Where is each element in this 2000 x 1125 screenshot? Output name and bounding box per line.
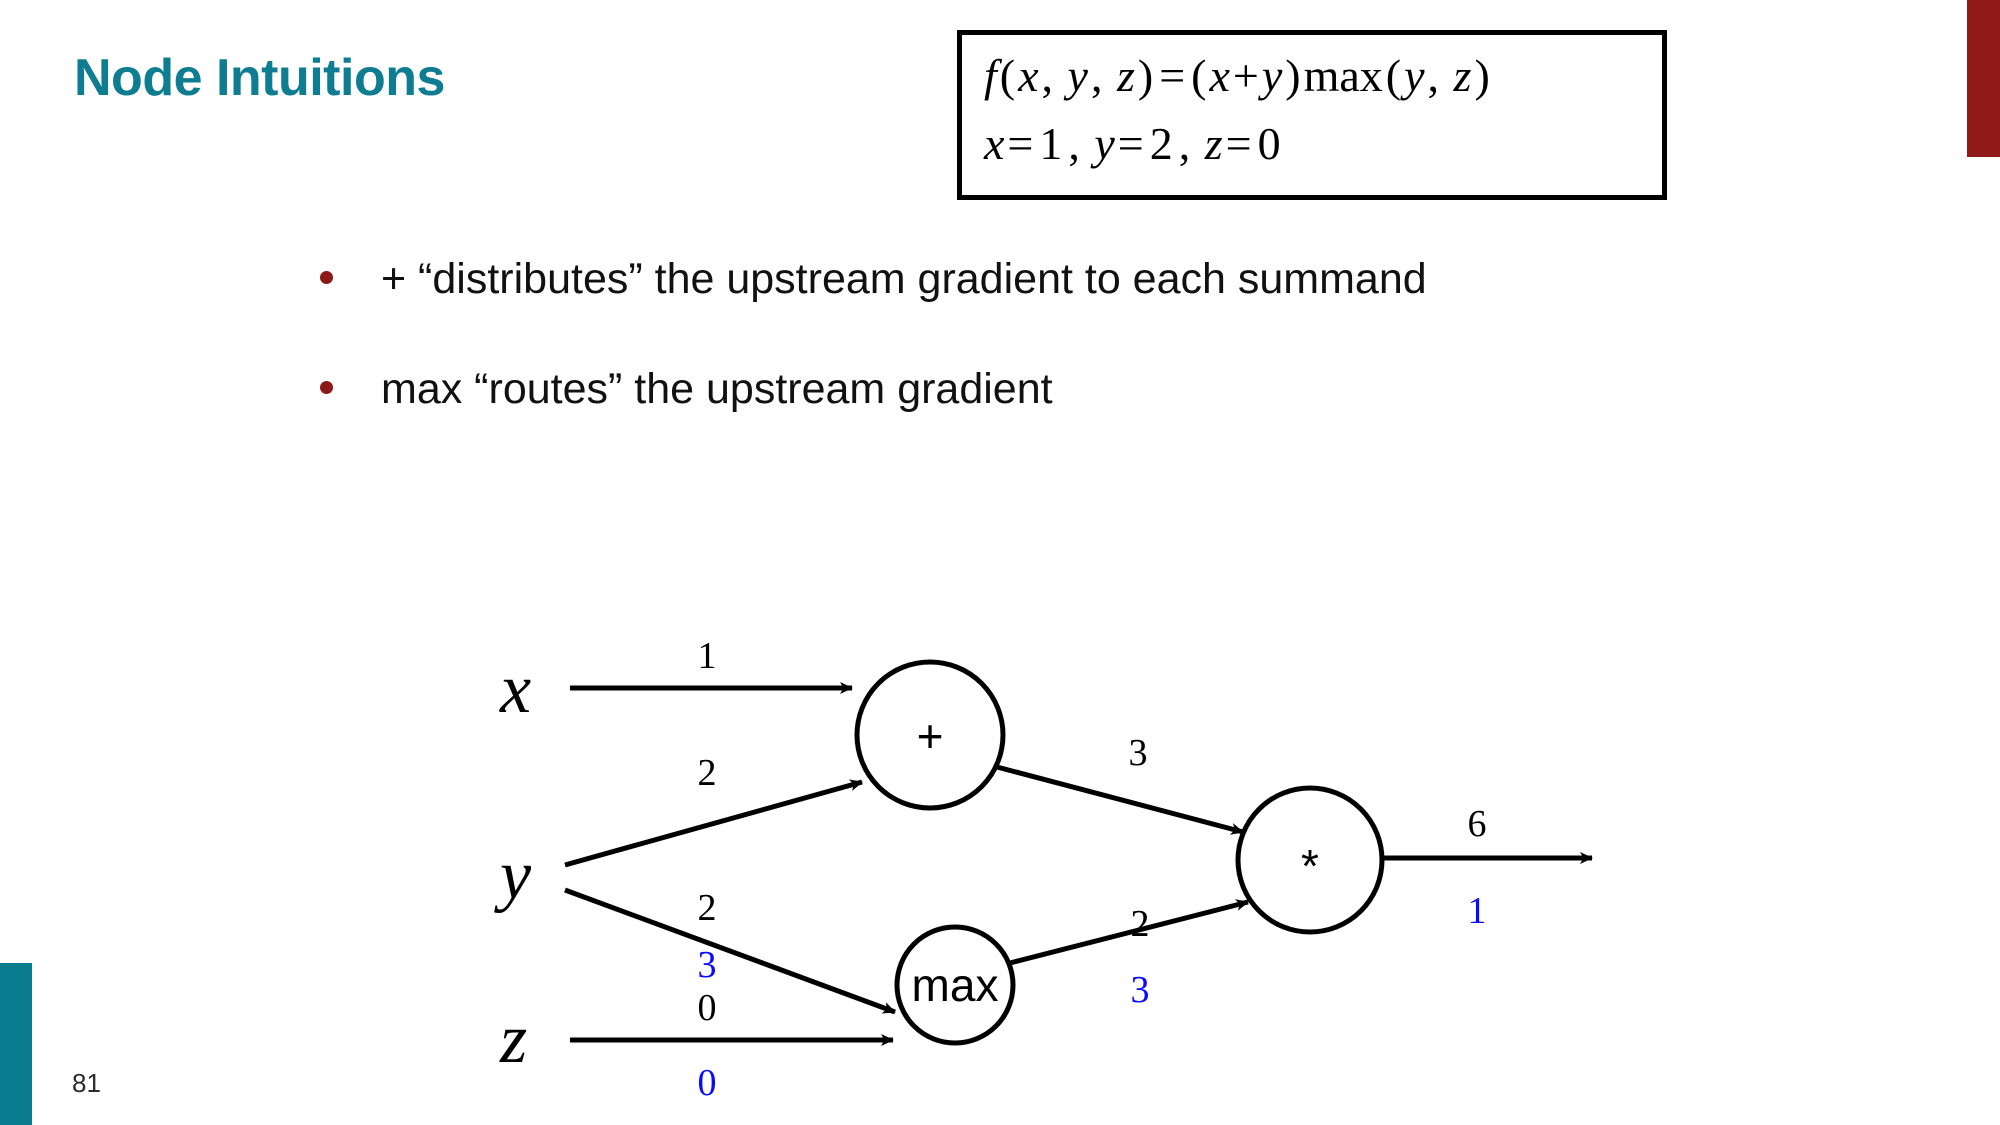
- graph-node-mul: [1238, 788, 1382, 932]
- page-number: 81: [72, 1068, 101, 1099]
- edge-label-max-mul-gradient: 3: [1131, 969, 1150, 1011]
- formula-var-y: y: [1094, 118, 1114, 169]
- formula-plus-operator: +: [1230, 50, 1262, 101]
- formula-z-2: z: [1454, 50, 1472, 101]
- formula-val-z: 0: [1255, 118, 1284, 169]
- graph-node-mul-label: *: [1301, 840, 1319, 892]
- formula-line-2: x=1, y=2, z=0: [984, 117, 1284, 170]
- formula-line-1: f(x, y, z)=(x+y)max(y, z): [984, 49, 1493, 102]
- formula-sep-1: ,: [1065, 118, 1094, 169]
- formula-paren-open-2: (: [1188, 50, 1209, 101]
- edge-label-y-max-gradient: 3: [698, 944, 717, 986]
- edge-y-to-max: [565, 890, 895, 1012]
- graph-input-label-z: z: [499, 1001, 527, 1078]
- graph-input-label-y: y: [494, 837, 532, 914]
- edge-label-max-mul-value: 2: [1131, 903, 1150, 945]
- edge-plus-to-mul: [997, 767, 1243, 832]
- slide-canvas: Node Intuitions f(x, y, z)=(x+y)max(y, z…: [0, 0, 2000, 1125]
- edge-label-output-gradient: 1: [1468, 890, 1487, 932]
- graph-node-plus-label: +: [917, 710, 944, 762]
- bullet-marker-icon: [320, 381, 333, 394]
- edge-label-x-plus-value: 1: [698, 635, 717, 677]
- edge-label-output-value: 6: [1468, 803, 1487, 845]
- formula-val-x: 1: [1036, 118, 1065, 169]
- formula-comma-2: ,: [1088, 50, 1117, 101]
- formula-comma-3: ,: [1425, 50, 1454, 101]
- bottom-left-accent-bar: [0, 963, 32, 1125]
- edge-max-to-mul: [1010, 902, 1248, 963]
- edge-label-plus-mul-value: 3: [1129, 732, 1148, 774]
- formula-paren-close-2: ): [1282, 50, 1303, 101]
- graph-node-max: [897, 927, 1013, 1043]
- formula-eq-x: =: [1004, 118, 1036, 169]
- edge-label-y-max-value: 2: [698, 887, 717, 929]
- formula-y-3: y: [1404, 50, 1424, 101]
- edge-y-to-plus: [565, 782, 862, 865]
- formula-paren-open-1: (: [997, 50, 1018, 101]
- formula-y-1: y: [1068, 50, 1088, 101]
- graph-node-max-label: max: [912, 959, 999, 1011]
- graph-input-label-x: x: [499, 651, 531, 728]
- formula-var-z: z: [1205, 118, 1223, 169]
- top-right-accent-bar: [1967, 0, 2000, 157]
- formula-f: f: [984, 50, 997, 101]
- formula-paren-close-3: ): [1471, 50, 1492, 101]
- formula-paren-open-3: (: [1383, 50, 1404, 101]
- formula-eq-y: =: [1115, 118, 1147, 169]
- formula-max-function: max: [1304, 50, 1383, 101]
- graph-node-plus: [857, 662, 1003, 808]
- page-title: Node Intuitions: [74, 48, 445, 108]
- formula-z-1: z: [1117, 50, 1135, 101]
- edge-label-y-plus-value: 2: [698, 752, 717, 794]
- formula-var-x: x: [984, 118, 1004, 169]
- formula-equals-1: =: [1156, 50, 1188, 101]
- formula-paren-close-1: ): [1135, 50, 1156, 101]
- bullet-item-distributes: + “distributes” the upstream gradient to…: [320, 255, 1427, 304]
- formula-x-2: x: [1209, 50, 1229, 101]
- bullet-marker-icon: [320, 271, 333, 284]
- bullet-text: + “distributes” the upstream gradient to…: [381, 255, 1427, 304]
- formula-x-1: x: [1018, 50, 1038, 101]
- bullet-text: max “routes” the upstream gradient: [381, 365, 1053, 414]
- formula-val-y: 2: [1147, 118, 1176, 169]
- formula-sep-2: ,: [1176, 118, 1205, 169]
- formula-eq-z: =: [1223, 118, 1255, 169]
- bullet-item-routes: max “routes” the upstream gradient: [320, 365, 1053, 414]
- edge-label-z-max-gradient: 0: [698, 1062, 717, 1104]
- edge-label-z-max-value: 0: [698, 987, 717, 1029]
- formula-y-2: y: [1262, 50, 1282, 101]
- formula-comma-1: ,: [1039, 50, 1068, 101]
- formula-box: f(x, y, z)=(x+y)max(y, z) x=1, y=2, z=0: [957, 30, 1667, 200]
